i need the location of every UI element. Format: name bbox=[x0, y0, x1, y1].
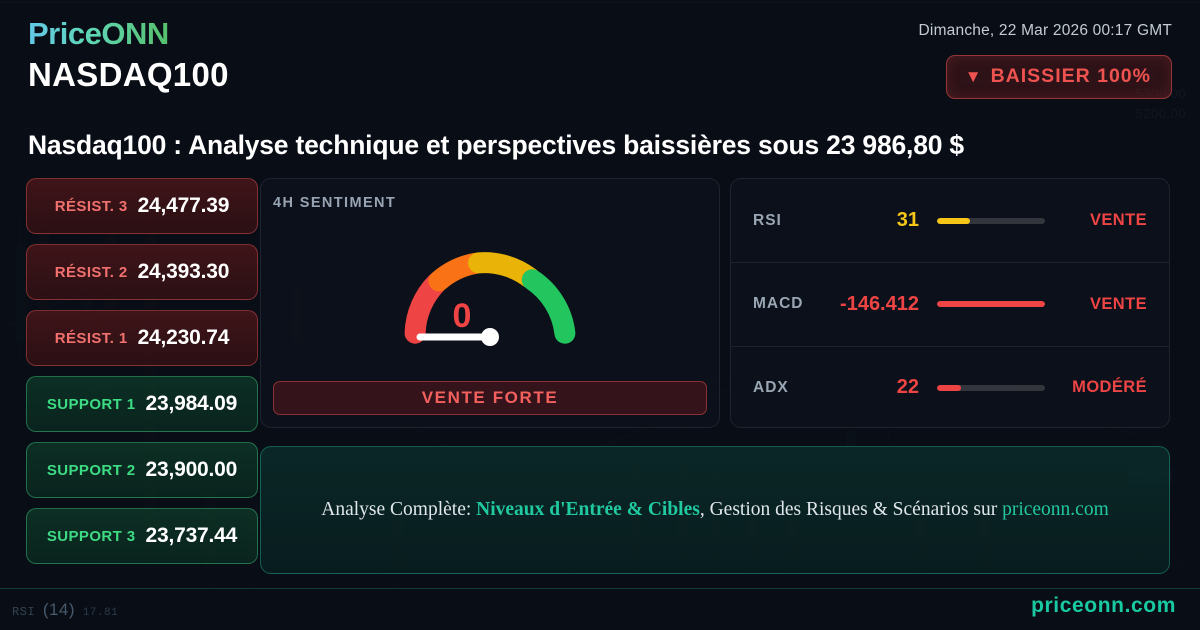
bias-label: BAISSIER 100% bbox=[991, 65, 1151, 88]
level-row-support-3: SUPPORT 3 23,737.44 bbox=[26, 508, 258, 564]
page-title: Nasdaq100 : Analyse technique et perspec… bbox=[28, 130, 1178, 161]
indicator-value: 22 bbox=[831, 376, 927, 399]
indicator-progress-track bbox=[937, 218, 1045, 224]
level-row-support-2: SUPPORT 2 23,900.00 bbox=[26, 442, 258, 498]
level-label: RÉSIST. 3 bbox=[55, 198, 128, 215]
level-value: 23,984.09 bbox=[146, 392, 238, 416]
cta-prefix: Analyse Complète: bbox=[321, 499, 476, 520]
cta-url-link[interactable]: priceonn.com bbox=[1002, 499, 1109, 520]
indicator-label: ADX bbox=[753, 379, 831, 397]
sentiment-signal-label: VENTE FORTE bbox=[422, 388, 559, 408]
brand-logo: PriceONN bbox=[28, 16, 169, 52]
bias-badge: ▼ BAISSIER 100% bbox=[946, 55, 1172, 99]
gauge-segment-neutral bbox=[479, 263, 530, 278]
level-label: SUPPORT 1 bbox=[47, 396, 136, 413]
indicator-label: MACD bbox=[753, 295, 831, 313]
level-value: 24,393.30 bbox=[138, 260, 230, 284]
bg-rsi-legend: RSI (14) 17.81 bbox=[12, 600, 118, 620]
level-label: SUPPORT 2 bbox=[47, 462, 136, 479]
cta-highlight-link[interactable]: Niveaux d'Entrée & Cibles bbox=[476, 499, 700, 520]
header: PriceONN NASDAQ100 Dimanche, 22 Mar 2026… bbox=[0, 0, 1200, 120]
indicator-progress-fill bbox=[937, 385, 961, 391]
indicator-label: RSI bbox=[753, 212, 831, 230]
bg-rsi-tag: RSI bbox=[12, 605, 35, 619]
indicator-progress-track bbox=[937, 385, 1045, 391]
level-value: 23,737.44 bbox=[146, 524, 238, 548]
level-label: RÉSIST. 2 bbox=[55, 264, 128, 281]
indicator-progress-fill bbox=[937, 301, 1045, 307]
indicator-progress-fill bbox=[937, 218, 970, 224]
bg-rsi-value: 17.81 bbox=[83, 607, 119, 619]
indicator-status: MODÉRÉ bbox=[1055, 378, 1147, 397]
bg-divider-line bbox=[0, 588, 1200, 589]
cta-middle: , Gestion des Risques & Scénarios sur bbox=[700, 499, 1002, 520]
level-label: RÉSIST. 1 bbox=[55, 330, 128, 347]
cta-banner[interactable]: Analyse Complète: Niveaux d'Entrée & Cib… bbox=[260, 446, 1170, 574]
sentiment-panel-title: 4H SENTIMENT bbox=[273, 195, 396, 211]
indicator-value: -146.412 bbox=[831, 293, 927, 316]
indicator-row-macd: MACD -146.412 VENTE bbox=[731, 262, 1169, 345]
level-value: 23,900.00 bbox=[146, 458, 238, 482]
level-row-resistance-1: RÉSIST. 1 24,230.74 bbox=[26, 310, 258, 366]
header-right: Dimanche, 22 Mar 2026 00:17 GMT ▼ BAISSI… bbox=[919, 22, 1172, 99]
level-label: SUPPORT 3 bbox=[47, 528, 136, 545]
indicator-status: VENTE bbox=[1055, 211, 1147, 230]
indicator-row-rsi: RSI 31 VENTE bbox=[731, 179, 1169, 262]
indicator-progress-track bbox=[937, 301, 1045, 307]
arrow-down-icon: ▼ bbox=[965, 68, 982, 85]
sentiment-panel: 4H SENTIMENT 0 VENTE FORTE bbox=[260, 178, 720, 428]
indicator-status: VENTE bbox=[1055, 295, 1147, 314]
sentiment-signal-badge: VENTE FORTE bbox=[273, 381, 707, 415]
bg-rsi-period: (14) bbox=[43, 600, 75, 619]
level-row-support-1: SUPPORT 1 23,984.09 bbox=[26, 376, 258, 432]
social-card: 5300.00 5200.00 5100.00 12 RSI (14) 17.8… bbox=[0, 0, 1200, 630]
levels-list: RÉSIST. 3 24,477.39 RÉSIST. 2 24,393.30 … bbox=[26, 178, 258, 564]
cta-text: Analyse Complète: Niveaux d'Entrée & Cib… bbox=[321, 499, 1109, 521]
footer-brand: priceonn.com bbox=[1031, 594, 1176, 618]
timestamp: Dimanche, 22 Mar 2026 00:17 GMT bbox=[919, 22, 1172, 40]
indicator-row-adx: ADX 22 MODÉRÉ bbox=[731, 346, 1169, 429]
sentiment-score: 0 bbox=[233, 297, 691, 336]
level-row-resistance-2: RÉSIST. 2 24,393.30 bbox=[26, 244, 258, 300]
indicator-value: 31 bbox=[831, 209, 927, 232]
level-value: 24,230.74 bbox=[138, 326, 230, 350]
indicators-panel: RSI 31 VENTE MACD -146.412 VENTE ADX 22 … bbox=[730, 178, 1170, 428]
level-row-resistance-3: RÉSIST. 3 24,477.39 bbox=[26, 178, 258, 234]
level-value: 24,477.39 bbox=[138, 194, 230, 218]
